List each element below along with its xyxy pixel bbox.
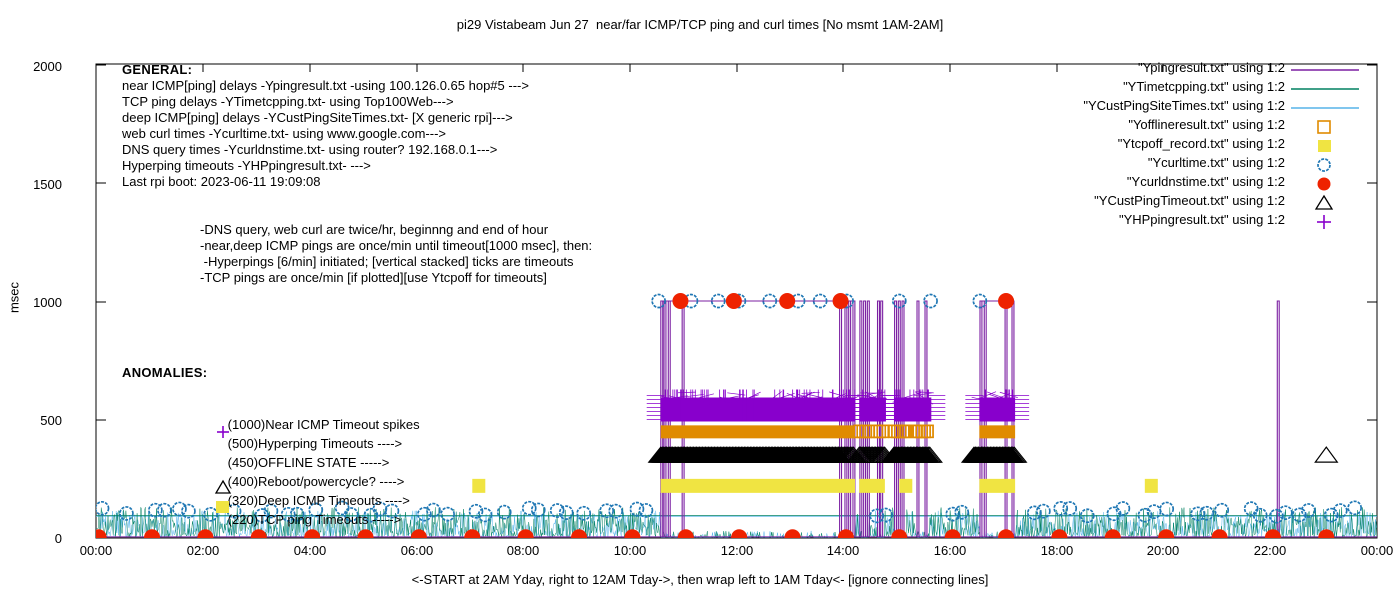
anomaly-row-320: (320)Deep ICMP Timeouts ----> <box>122 463 420 482</box>
general-heading: GENERAL: <box>122 62 529 77</box>
anomalies-annotation-block: ANOMALIES: (1000)Near ICMP Timeout spike… <box>122 365 420 501</box>
legend-label-ycustpingsitetimes: "YCustPingSiteTimes.txt" using 1:2 <box>1083 98 1285 113</box>
anomaly-row-400: (400)Reboot/powercycle? ----> <box>122 444 420 463</box>
general-line-6: Hyperping timeouts -YHPpingresult.txt- -… <box>122 158 529 173</box>
legend-label-ytimetcpping: "YTimetcpping.txt" using 1:2 <box>1123 79 1285 94</box>
legend-entry-ycustpingsitetimes: "YCustPingSiteTimes.txt" using 1:2 <box>1040 98 1385 117</box>
series-ycustpingtimeout <box>649 447 1338 462</box>
legend-label-ytcpoff: "Ytcpoff_record.txt" using 1:2 <box>1118 136 1285 151</box>
general-line-3: deep ICMP[ping] delays -YCustPingSiteTim… <box>122 110 529 125</box>
legend-label-yhppingresult: "YHPpingresult.txt" using 1:2 <box>1119 212 1285 227</box>
legend: "Ypingresult.txt" using 1:2 "YTimetcppin… <box>1040 60 1385 231</box>
general-annotation-block: GENERAL: near ICMP[ping] delays -Ypingre… <box>122 62 529 189</box>
chart-page: pi29 Vistabeam Jun 27 near/far ICMP/TCP … <box>0 0 1400 600</box>
legend-label-yofflineresult: "Yofflineresult.txt" using 1:2 <box>1128 117 1285 132</box>
general-note-2: -near,deep ICMP pings are once/min until… <box>200 238 592 253</box>
anomaly-row-220: (220)TCP ping Timeouts -----> <box>122 482 420 501</box>
line-icon-teal <box>1289 79 1375 98</box>
series-yofflineresult <box>661 425 1015 438</box>
filled-square-icon <box>184 482 204 501</box>
legend-entry-ytimetcpping: "YTimetcpping.txt" using 1:2 <box>1040 79 1385 98</box>
series-yhppingresult <box>647 390 1029 422</box>
general-line-2: TCP ping delays -YTimetcpping.txt- using… <box>122 94 529 109</box>
anomalies-heading: ANOMALIES: <box>122 365 420 380</box>
general-line-1: near ICMP[ping] delays -Ypingresult.txt … <box>122 78 529 93</box>
legend-label-ycurldnstime: "Ycurldnstime.txt" using 1:2 <box>1127 174 1285 189</box>
filled-square-icon <box>1289 136 1375 155</box>
legend-entry-yhppingresult: "YHPpingresult.txt" using 1:2 <box>1040 212 1385 231</box>
legend-label-ypingresult: "Ypingresult.txt" using 1:2 <box>1138 60 1285 75</box>
general-line-5: DNS query times -Ycurldnstime.txt- using… <box>122 142 529 157</box>
filled-circle-icon <box>1289 174 1375 193</box>
series-ytcpoff-record <box>472 479 1158 493</box>
legend-label-ycustpingtimeout: "YCustPingTimeout.txt" using 1:2 <box>1094 193 1285 208</box>
general-line-7: Last rpi boot: 2023-06-11 19:09:08 <box>122 174 529 189</box>
general-note-4: -TCP pings are once/min [if plotted][use… <box>200 270 592 285</box>
legend-entry-ytcpoff: "Ytcpoff_record.txt" using 1:2 <box>1040 136 1385 155</box>
anomaly-symbol-none <box>184 387 204 406</box>
triangle-icon <box>184 463 204 482</box>
open-square-icon <box>1289 117 1375 136</box>
anomaly-row-1000: (1000)Near ICMP Timeout spikes <box>122 387 420 406</box>
general-notes-block: -DNS query, web curl are twice/hr, begin… <box>200 221 592 285</box>
line-icon-purple <box>1289 60 1375 79</box>
legend-entry-yofflineresult: "Yofflineresult.txt" using 1:2 <box>1040 117 1385 136</box>
general-note-3: -Hyperpings [6/min] initiated; [vertical… <box>200 254 592 269</box>
open-triangle-icon <box>1289 193 1375 212</box>
open-circle-icon <box>1289 155 1375 174</box>
plus-icon <box>1289 212 1375 231</box>
legend-entry-ycustpingtimeout: "YCustPingTimeout.txt" using 1:2 <box>1040 193 1385 212</box>
anomaly-symbol-none <box>184 425 204 444</box>
legend-entry-ypingresult: "Ypingresult.txt" using 1:2 <box>1040 60 1385 79</box>
general-note-1: -DNS query, web curl are twice/hr, begin… <box>200 222 592 237</box>
anomaly-label-220: (220)TCP ping Timeouts -----> <box>228 512 402 527</box>
general-line-4: web curl times -Ycurltime.txt- using www… <box>122 126 529 141</box>
anomaly-row-450: (450)OFFLINE STATE -----> <box>122 425 420 444</box>
plus-icon <box>184 406 204 425</box>
anomaly-symbol-none <box>184 444 204 463</box>
anomaly-row-500: (500)Hyperping Timeouts ----> <box>122 406 420 425</box>
legend-entry-ycurltime: "Ycurltime.txt" using 1:2 <box>1040 155 1385 174</box>
line-icon-lightblue <box>1289 98 1375 117</box>
legend-label-ycurltime: "Ycurltime.txt" using 1:2 <box>1148 155 1285 170</box>
legend-entry-ycurldnstime: "Ycurldnstime.txt" using 1:2 <box>1040 174 1385 193</box>
